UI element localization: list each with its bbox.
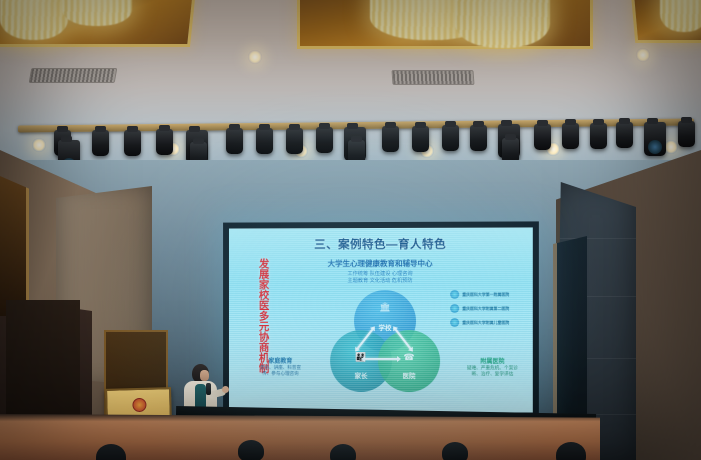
subtitle-detail-line-2: 主题教育 文化活动 危机预防 <box>229 278 533 285</box>
presenter-face <box>200 370 209 381</box>
presentation-hall-photo: 三、案例特色—育人特色 大学生心理健康教育和辅导中心 工作统筹 队伍建设 心理咨… <box>0 0 701 460</box>
school-icon: 🏛 <box>354 302 416 313</box>
presenter-hand <box>222 386 229 393</box>
affiliated-hospital-heading: 附属医院 <box>450 356 533 365</box>
projection-screen: 三、案例特色—育人特色 大学生心理健康教育和辅导中心 工作统筹 队伍建设 心理咨… <box>229 227 533 412</box>
venn-label-hospital: 医院 <box>378 370 440 380</box>
affiliated-hospital-detail-2: 断、治疗、复学评估 <box>450 372 533 379</box>
downlight <box>636 48 650 62</box>
partner-logo-item: 重庆医科大学附属第二医院 <box>450 304 533 313</box>
downlight <box>248 50 262 64</box>
venn-diagram: 🏛 学校 👪 家长 ☎ 医院 <box>324 290 444 398</box>
air-vent <box>29 68 118 83</box>
partner-logo-name: 重庆医科大学第一附属医院 <box>462 292 509 297</box>
partner-logo-name: 重庆医科大学附属儿童医院 <box>462 320 509 325</box>
chandelier <box>455 0 550 48</box>
partner-logo-list: 重庆医科大学第一附属医院 重庆医科大学附属第二医院 重庆医科大学附属儿童医院 <box>450 290 533 332</box>
chandelier <box>660 0 701 32</box>
downlight <box>32 138 46 152</box>
affiliated-hospital-block: 附属医院 疑难、严重危机、个案诊 断、治疗、复学评估 <box>450 356 533 378</box>
venn-label-school: 学校 <box>354 322 416 332</box>
right-doorway <box>553 236 587 436</box>
slide-subtitle: 大学生心理健康教育和辅导中心 <box>229 258 533 270</box>
slide-title: 三、案例特色—育人特色 <box>229 236 533 253</box>
family-education-detail-2: 传、参与心理咨询 <box>241 371 320 378</box>
family-education-heading: 家庭教育 <box>241 356 320 365</box>
stage-apron <box>0 414 600 460</box>
framed-artwork <box>0 176 29 316</box>
downlight <box>664 140 678 154</box>
hospital-logo-icon <box>450 304 459 313</box>
partner-logo-name: 重庆医科大学附属第二医院 <box>462 306 509 311</box>
air-vent <box>391 70 474 85</box>
arrow-parents-hospital <box>364 358 398 360</box>
hospital-logo-icon <box>450 318 459 327</box>
microphone <box>206 383 211 395</box>
projection-screen-frame: 三、案例特色—育人特色 大学生心理健康教育和辅导中心 工作统筹 队伍建设 心理咨… <box>223 221 539 418</box>
hospital-logo-icon <box>450 290 459 299</box>
partner-logo-item: 重庆医科大学附属儿童医院 <box>450 318 533 327</box>
partner-logo-item: 重庆医科大学第一附属医院 <box>450 290 533 299</box>
chandelier <box>0 0 68 40</box>
slide-subtitle-details: 工作统筹 队伍建设 心理咨询 主题教育 文化活动 危机预防 <box>229 271 533 285</box>
family-education-block: 家庭教育 走访、讲座、科普宣 传、参与心理咨询 <box>241 356 320 378</box>
emblem-icon <box>132 398 146 412</box>
